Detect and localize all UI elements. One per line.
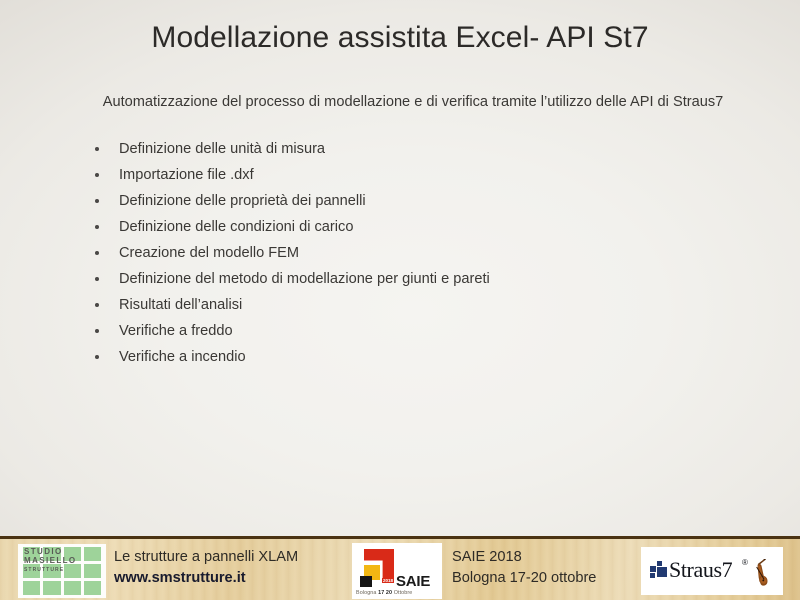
- saie-event-location-dates: Bologna 17-20 ottobre: [452, 568, 596, 589]
- saie-year-badge: 2018: [382, 578, 394, 583]
- studio-masiello-logo: STUDIO MASIELLO STRUTTURE: [18, 544, 106, 598]
- page-title: Modellazione assistita Excel- API St7: [0, 20, 800, 56]
- bullet-dot-icon: [95, 329, 99, 333]
- registered-trademark-icon: ®: [742, 558, 748, 567]
- bullet-dot-icon: [95, 225, 99, 229]
- slide-canvas: Modellazione assistita Excel- API St7 Au…: [0, 0, 800, 600]
- violin-icon: [749, 559, 779, 587]
- straus7-logo: Straus7 ®: [641, 547, 783, 595]
- straus7-squares-icon: [650, 561, 667, 578]
- bullet-dot-icon: [95, 147, 99, 151]
- studio-masiello-text: Le strutture a pannelli XLAM www.smstrut…: [114, 547, 298, 589]
- list-item-label: Definizione delle condizioni di carico: [119, 219, 353, 235]
- list-item-label: Risultati dell’analisi: [119, 297, 242, 313]
- saie-logo: 2018 SAIE Bologna 17 20 Ottobre: [352, 543, 442, 599]
- list-item: Definizione delle proprietà dei pannelli: [92, 188, 752, 214]
- slide-footer: STUDIO MASIELLO STRUTTURE Le strutture a…: [0, 536, 800, 600]
- bullet-dot-icon: [95, 303, 99, 307]
- list-item-label: Definizione delle proprietà dei pannelli: [119, 193, 366, 209]
- bullet-list: Definizione delle unità di misura Import…: [92, 136, 752, 370]
- list-item: Verifiche a incendio: [92, 344, 752, 370]
- masiello-wordmark: STUDIO MASIELLO STRUTTURE: [24, 548, 77, 575]
- list-item-label: Verifiche a incendio: [119, 349, 246, 365]
- list-item: Definizione delle unità di misura: [92, 136, 752, 162]
- smstrutture-website-link[interactable]: www.smstrutture.it: [114, 568, 298, 589]
- list-item-label: Creazione del modello FEM: [119, 245, 299, 261]
- masiello-line-2: MASIELLO: [24, 556, 77, 565]
- slide-subtitle: Automatizzazione del processo di modella…: [88, 93, 738, 112]
- list-item: Verifiche a freddo: [92, 318, 752, 344]
- bullet-dot-icon: [95, 173, 99, 177]
- saie-logo-tagline: Bologna 17 20 Ottobre: [356, 590, 412, 596]
- bullet-dot-icon: [95, 251, 99, 255]
- list-item: Importazione file .dxf: [92, 162, 752, 188]
- list-item: Definizione del metodo di modellazione p…: [92, 266, 752, 292]
- saie-event-text: SAIE 2018 Bologna 17-20 ottobre: [452, 547, 596, 589]
- saie-black-square-icon: [360, 576, 372, 587]
- list-item: Risultati dell’analisi: [92, 292, 752, 318]
- saie-event-name: SAIE 2018: [452, 547, 596, 568]
- bullet-dot-icon: [95, 355, 99, 359]
- list-item-label: Importazione file .dxf: [119, 167, 254, 183]
- straus7-logo-name: Straus7: [669, 557, 732, 583]
- list-item-label: Definizione delle unità di misura: [119, 141, 325, 157]
- list-item: Creazione del modello FEM: [92, 240, 752, 266]
- masiello-line-3: STRUTTURE: [24, 566, 77, 575]
- xlam-tagline: Le strutture a pannelli XLAM: [114, 547, 298, 568]
- list-item-label: Verifiche a freddo: [119, 323, 233, 339]
- bullet-dot-icon: [95, 199, 99, 203]
- list-item: Definizione delle condizioni di carico: [92, 214, 752, 240]
- saie-logo-name: SAIE: [396, 573, 430, 590]
- bullet-dot-icon: [95, 277, 99, 281]
- list-item-label: Definizione del metodo di modellazione p…: [119, 271, 490, 287]
